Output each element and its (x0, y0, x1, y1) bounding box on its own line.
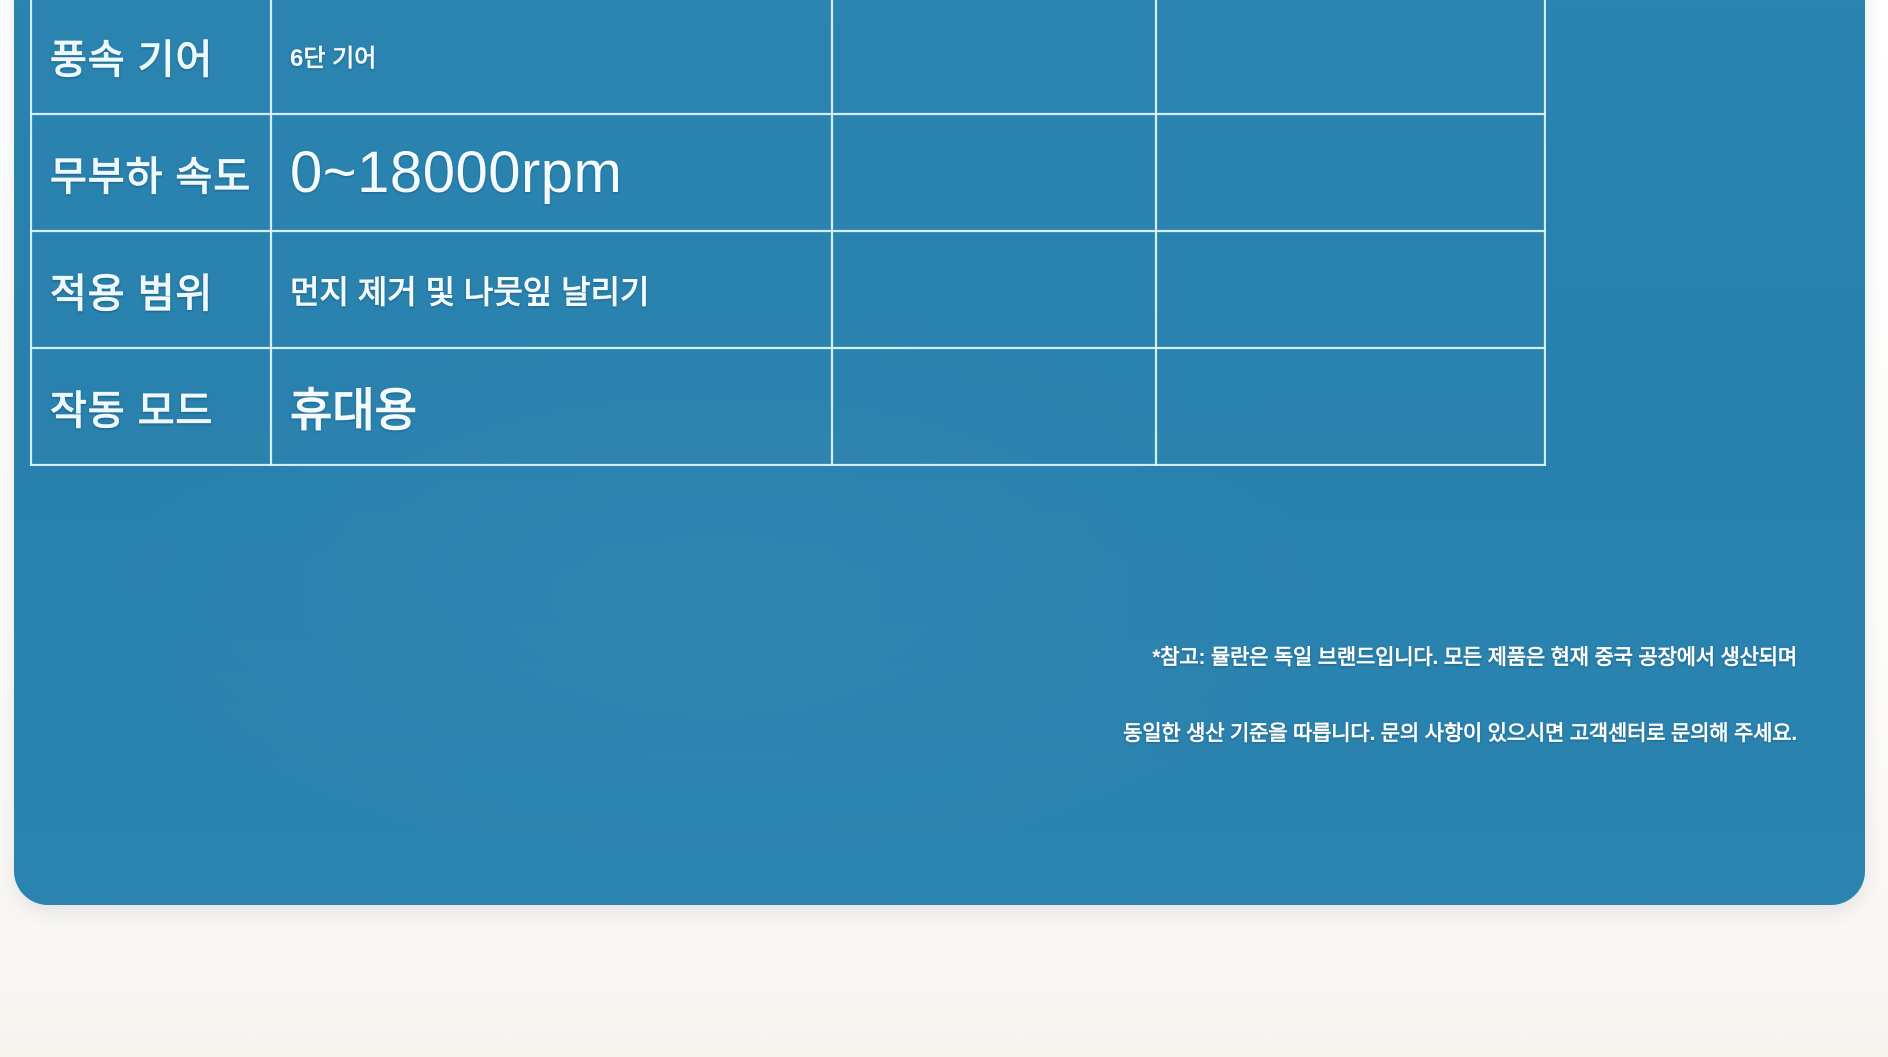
spec-value-cell: 6단 기어 (271, 0, 832, 114)
table-row: 무부하 속도 0~18000rpm (31, 114, 1545, 231)
spec-blank-cell-a (832, 114, 1156, 231)
footnote-line-1: *참고: 뮬란은 독일 브랜드입니다. 모든 제품은 현재 중국 공장에서 생산… (797, 620, 1797, 696)
spec-blank-cell-b (1156, 114, 1545, 231)
footnote-block: *참고: 뮬란은 독일 브랜드입니다. 모든 제품은 현재 중국 공장에서 생산… (797, 620, 1797, 772)
specification-table: 풍속 기어 6단 기어 무부하 속도 (30, 0, 1546, 466)
spec-blank-cell-b (1156, 0, 1545, 114)
spec-blank-cell-a (832, 0, 1156, 114)
spec-blank-cell-b (1156, 231, 1545, 348)
spec-blank-cell-a (832, 348, 1156, 465)
footnote-line-2: 동일한 생산 기준을 따릅니다. 문의 사항이 있으시면 고객센터로 문의해 주… (797, 696, 1797, 772)
spec-label-cell: 적용 범위 (31, 231, 271, 348)
spec-label-application-range: 적용 범위 (50, 272, 213, 316)
spec-panel: 풍속 기어 6단 기어 무부하 속도 (14, 0, 1865, 905)
spec-blank-cell-b (1156, 348, 1545, 465)
table-row: 작동 모드 휴대용 (31, 348, 1545, 465)
spec-label-cell: 무부하 속도 (31, 114, 271, 231)
spec-label-cell: 풍속 기어 (31, 0, 271, 114)
spec-value-cell: 0~18000rpm (271, 114, 832, 231)
spec-label-wind-speed-gear: 풍속 기어 (50, 38, 213, 82)
spec-value-cell: 휴대용 (271, 348, 832, 465)
spec-value-application-range: 먼지 제거 및 나뭇잎 날리기 (290, 274, 649, 310)
spec-value-operating-mode: 휴대용 (290, 384, 417, 436)
spec-label-operating-mode: 작동 모드 (50, 389, 213, 433)
table-row: 적용 범위 먼지 제거 및 나뭇잎 날리기 (31, 231, 1545, 348)
spec-value-no-load-speed: 0~18000rpm (290, 140, 622, 205)
spec-value-wind-speed-gear: 6단 기어 (290, 45, 376, 72)
table-row: 풍속 기어 6단 기어 (31, 0, 1545, 114)
spec-blank-cell-a (832, 231, 1156, 348)
spec-label-cell: 작동 모드 (31, 348, 271, 465)
spec-label-no-load-speed: 무부하 속도 (50, 155, 251, 199)
spec-value-cell: 먼지 제거 및 나뭇잎 날리기 (271, 231, 832, 348)
page-root: 풍속 기어 6단 기어 무부하 속도 (0, 0, 1888, 1057)
